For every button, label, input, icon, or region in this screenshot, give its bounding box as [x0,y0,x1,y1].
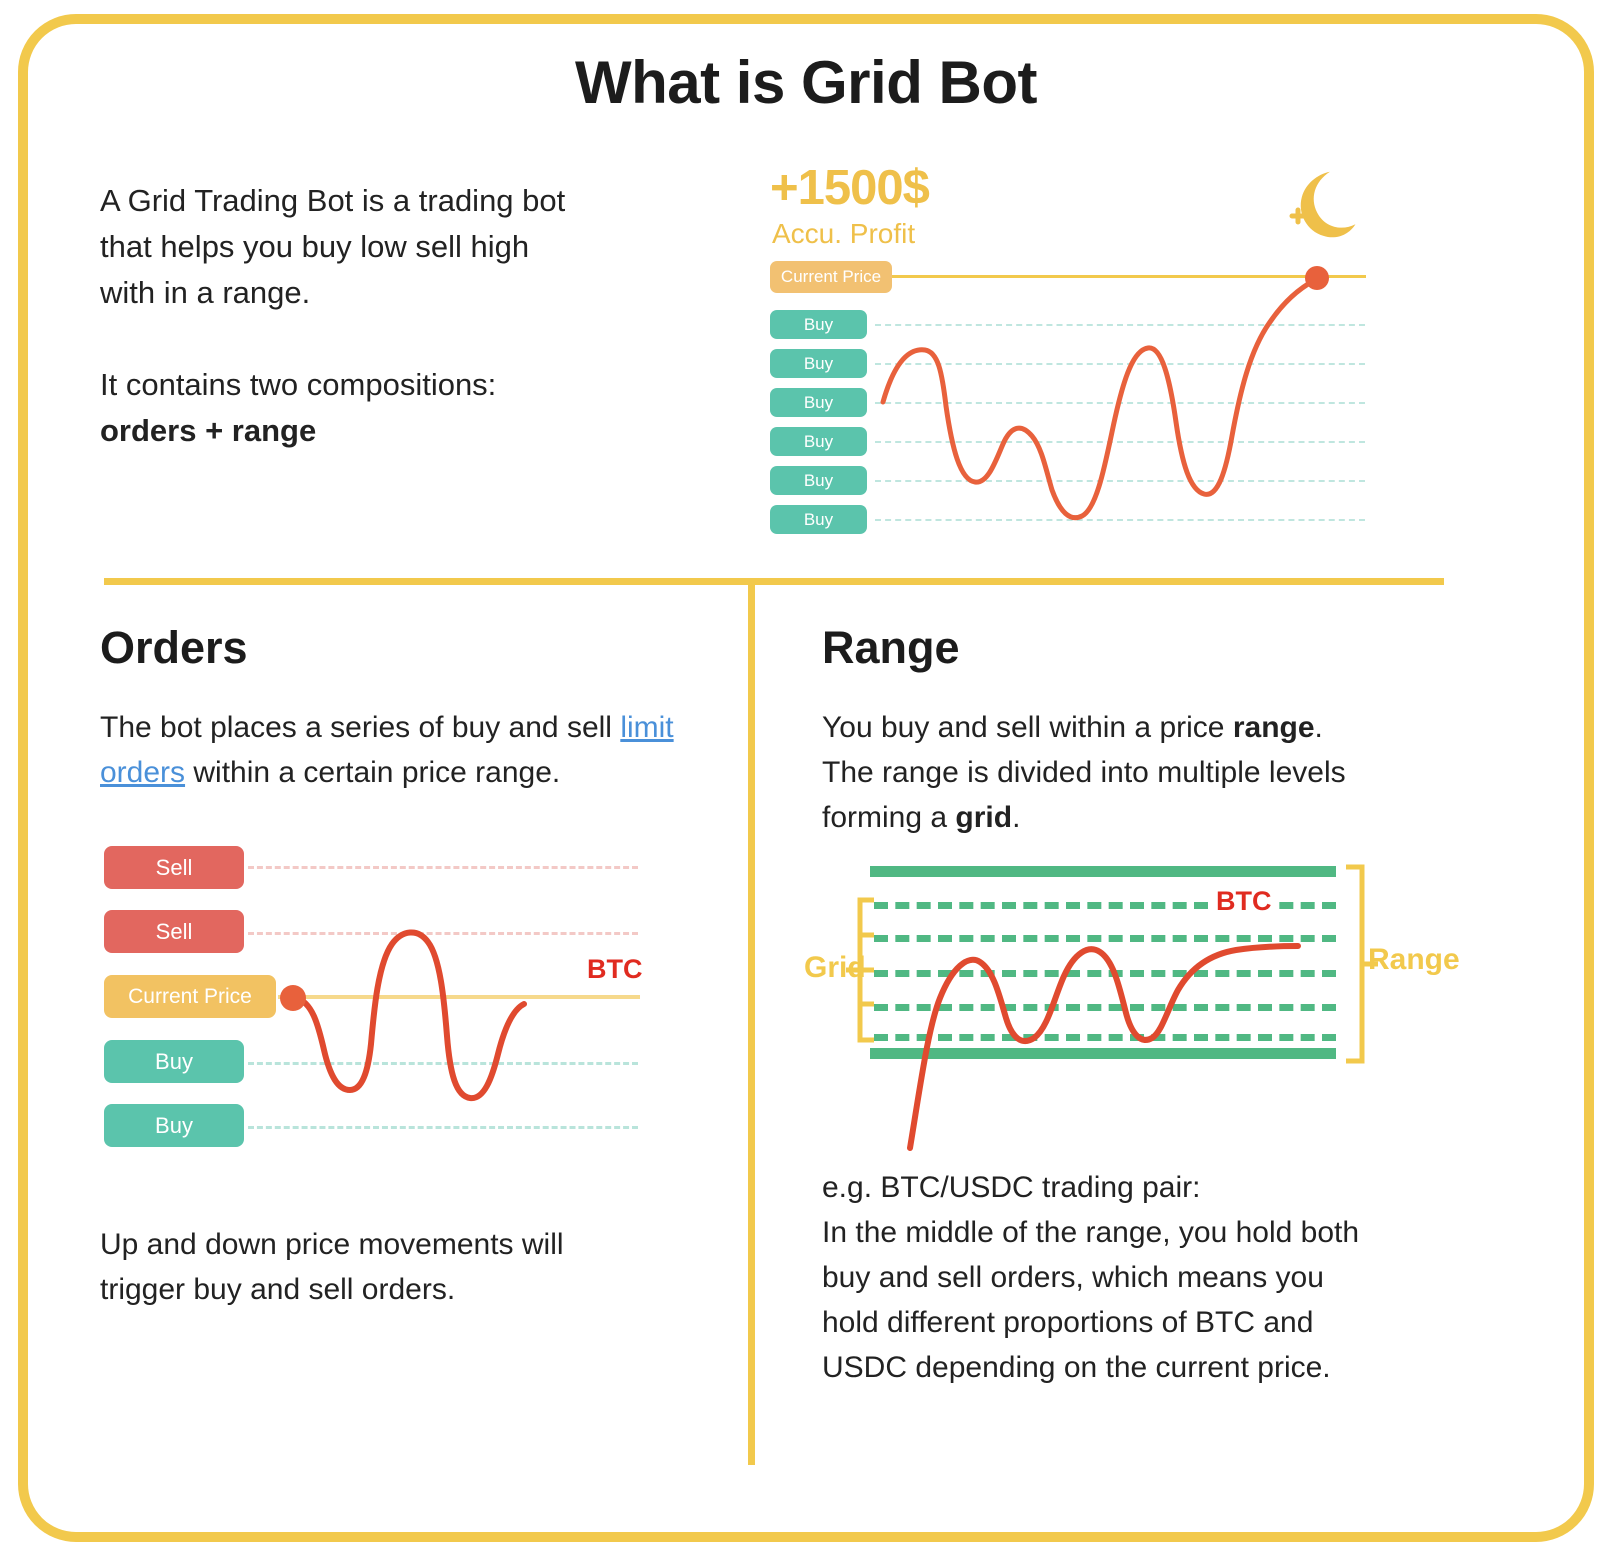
hero-price-curve [770,160,1390,560]
intro-line-3: with in a range. [100,270,700,316]
orders-diagram: Sell Sell Current Price Buy Buy BTC [100,838,660,1158]
orders-footer-text: Up and down price movements will trigger… [100,1222,740,1312]
range-heading: Range [822,622,960,674]
range-desc-2: The range is divided into multiple level… [822,756,1346,789]
range-btc-label: BTC [1212,886,1276,917]
range-desc-3a: forming a [822,801,955,834]
range-description: You buy and sell within a price range. T… [822,705,1462,840]
hero-chart: +1500$ Accu. Profit Current Price Buy Bu… [770,160,1390,560]
orders-footer-line-1: Up and down price movements will [100,1228,564,1261]
range-example-text: e.g. BTC/USDC trading pair: In the middl… [822,1165,1482,1390]
orders-heading: Orders [100,622,248,674]
range-label: Range [1368,943,1460,977]
intro-line-4: It contains two compositions: [100,362,700,408]
intro-compositions: orders + range [100,413,316,448]
orders-desc-part-2: within a certain price range. [185,756,560,789]
infographic-page: What is Grid Bot A Grid Trading Bot is a… [0,0,1612,1556]
orders-btc-label: BTC [587,954,643,985]
range-example-line-1: e.g. BTC/USDC trading pair: [822,1171,1200,1204]
intro-line-2: that helps you buy low sell high [100,224,700,270]
range-desc-3c: . [1012,801,1020,834]
orders-price-curve [100,838,660,1158]
range-desc-1a: You buy and sell within a price [822,711,1233,744]
range-desc-1c: . [1315,711,1323,744]
grid-label: Grid [804,951,866,985]
orders-footer-line-2: trigger buy and sell orders. [100,1273,455,1306]
range-example-line-4: hold different proportions of BTC and [822,1306,1313,1339]
range-example-line-2: In the middle of the range, you hold bot… [822,1216,1359,1249]
orders-desc-part-1: The bot places a series of buy and sell [100,711,620,744]
vertical-divider [748,585,755,1465]
intro-paragraph: A Grid Trading Bot is a trading bot that… [100,178,700,454]
intro-line-1: A Grid Trading Bot is a trading bot [100,178,700,224]
range-desc-3b: grid [955,801,1012,834]
horizontal-divider [104,578,1444,585]
range-example-line-5: USDC depending on the current price. [822,1351,1331,1384]
range-desc-1b: range [1233,711,1315,744]
intro-spacer [100,316,700,362]
orders-description: The bot places a series of buy and sell … [100,705,740,795]
range-example-line-3: buy and sell orders, which means you [822,1261,1324,1294]
hero-current-price-dot [1305,266,1329,290]
range-diagram: BTC Grid Range [800,858,1480,1073]
orders-current-price-dot [280,985,306,1011]
page-title: What is Grid Bot [0,48,1612,117]
